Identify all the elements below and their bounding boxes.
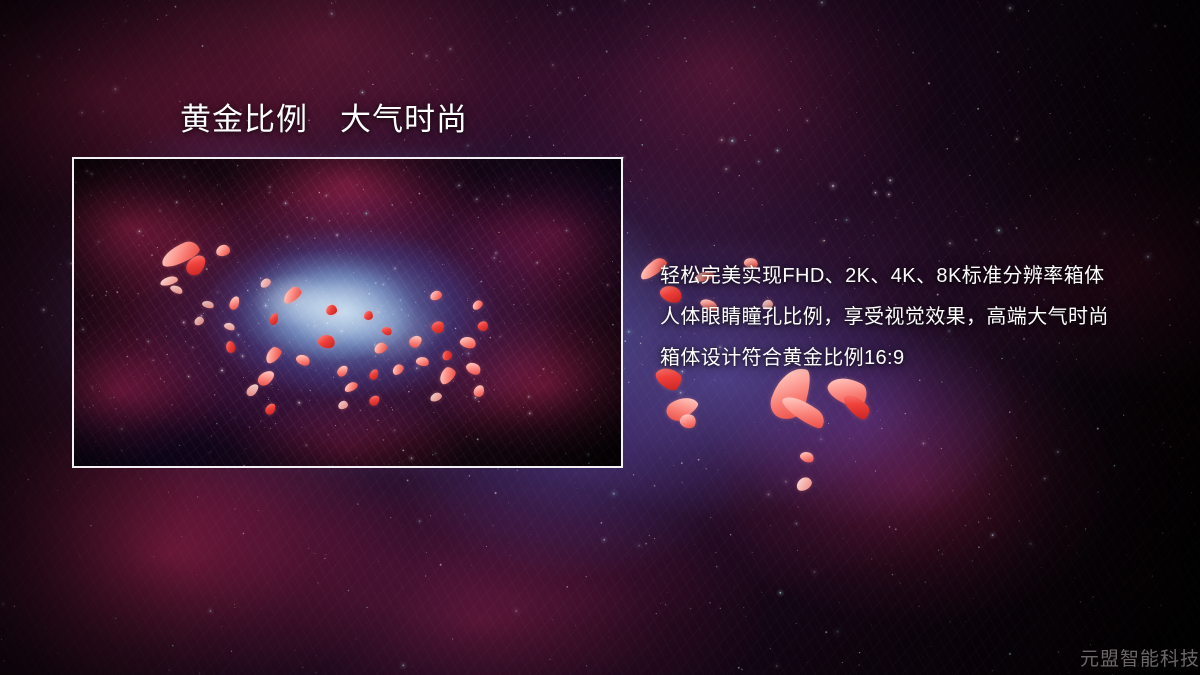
rose-petal bbox=[436, 365, 458, 387]
rose-petal bbox=[193, 315, 205, 326]
rose-petal bbox=[259, 277, 273, 289]
framed-image-wisps bbox=[74, 159, 621, 466]
rose-petal bbox=[317, 333, 337, 350]
rose-petal bbox=[472, 384, 485, 399]
rose-petal bbox=[779, 390, 828, 433]
rose-petal bbox=[245, 382, 261, 399]
rose-petal bbox=[373, 341, 389, 355]
rose-petal bbox=[464, 360, 483, 377]
framed-image-crimson-clouds bbox=[74, 159, 621, 466]
rose-petal bbox=[440, 349, 453, 362]
rose-petal bbox=[429, 290, 443, 302]
rose-petal bbox=[663, 391, 701, 425]
rose-petal bbox=[262, 345, 284, 366]
body-line-1: 轻松完美实现FHD、2K、4K、8K标准分辨率箱体 bbox=[660, 256, 1180, 297]
rose-petal bbox=[255, 368, 276, 389]
rose-petal bbox=[678, 412, 698, 431]
framed-image-starfield bbox=[74, 159, 621, 466]
rose-petal bbox=[841, 389, 873, 422]
rose-petal bbox=[476, 319, 489, 332]
rose-petal bbox=[407, 333, 424, 350]
rose-petal bbox=[183, 251, 209, 278]
body-line-3: 箱体设计符合黄金比例16:9 bbox=[660, 338, 1180, 379]
framed-image bbox=[72, 157, 623, 468]
rose-petal bbox=[159, 275, 178, 287]
rose-petal bbox=[381, 325, 394, 337]
rose-petal bbox=[337, 400, 349, 410]
rose-petal bbox=[325, 304, 338, 316]
rose-petal bbox=[459, 335, 478, 350]
rose-petal bbox=[335, 364, 349, 379]
rose-petal bbox=[799, 450, 816, 465]
rose-petal bbox=[429, 391, 443, 403]
rose-petal bbox=[215, 244, 231, 257]
rose-petal bbox=[391, 362, 406, 376]
rose-petal bbox=[224, 340, 236, 354]
framed-image-nebula-base bbox=[74, 159, 621, 466]
body-text-block: 轻松完美实现FHD、2K、4K、8K标准分辨率箱体 人体眼睛瞳孔比例，享受视觉效… bbox=[660, 256, 1180, 379]
rose-petal bbox=[415, 356, 430, 368]
rose-petal bbox=[794, 475, 814, 493]
rose-petal bbox=[158, 238, 202, 270]
rose-petal bbox=[228, 295, 241, 311]
rose-petal bbox=[169, 284, 184, 296]
rose-petal bbox=[471, 299, 485, 312]
framed-image-petal-layer bbox=[74, 159, 621, 466]
rose-petal bbox=[294, 352, 311, 367]
framed-image-bright-core bbox=[74, 159, 621, 466]
rose-petal bbox=[269, 312, 279, 325]
framed-image-vignette bbox=[74, 159, 621, 466]
watermark: 元盟智能科技 bbox=[1080, 647, 1200, 673]
body-line-2: 人体眼睛瞳孔比例，享受视觉效果，高端大气时尚 bbox=[660, 297, 1180, 338]
slide-title: 黄金比例 大气时尚 bbox=[180, 100, 468, 140]
rose-petal bbox=[368, 368, 379, 381]
rose-petal bbox=[343, 380, 359, 393]
rose-petal bbox=[223, 321, 236, 332]
rose-petal bbox=[368, 393, 382, 407]
rose-petal bbox=[280, 284, 303, 305]
rose-petal bbox=[430, 319, 446, 335]
rose-petal bbox=[201, 299, 214, 309]
presentation-slide: 黄金比例 大气时尚 轻松完美实现FHD、2K、4K、8K标准分辨率箱体 人体眼睛… bbox=[0, 0, 1200, 675]
rose-petal bbox=[264, 402, 278, 417]
rose-petal bbox=[364, 311, 373, 320]
